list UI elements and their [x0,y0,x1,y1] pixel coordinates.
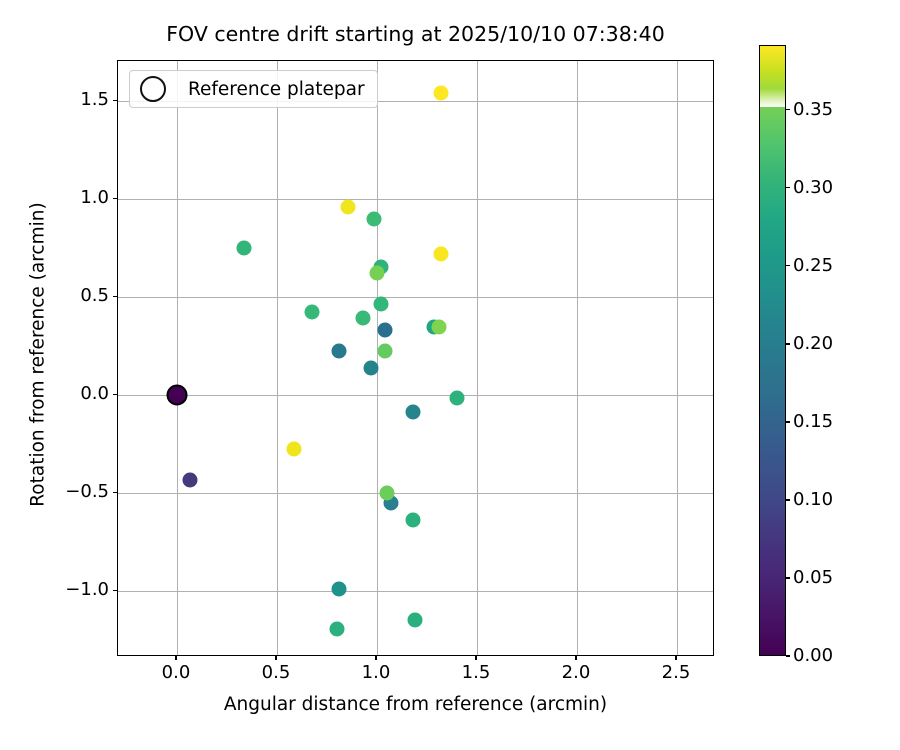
colorbar-tick-mark [786,265,790,266]
scatter-point [374,297,389,312]
colorbar-tick-label: 0.35 [793,99,833,120]
x-tick-label: 0.5 [246,662,306,683]
plot-axes [117,60,714,656]
scatter-point [341,200,356,215]
scatter-point [356,310,371,325]
colorbar-tick-mark [786,421,790,422]
scatter-point [370,265,385,280]
y-tick-mark [113,394,117,395]
colorbar-tick-label: 0.05 [793,567,833,588]
colorbar-tick-mark [786,109,790,110]
colorbar-tick-label: 0.30 [793,177,833,198]
y-tick-label: 0.5 [43,285,109,306]
scatter-point [434,247,449,262]
scatter-point [380,486,395,501]
scatter-point [305,304,320,319]
y-tick-label: 1.5 [43,89,109,110]
scatter-point [406,512,421,527]
x-tick-mark [475,656,476,660]
scatter-point [330,621,345,636]
scatter-points-layer [118,61,713,655]
colorbar-tick-label: 0.20 [793,333,833,354]
legend[interactable]: Reference platepar [129,70,378,108]
x-tick-label: 1.0 [346,662,406,683]
colorbar-tick-mark [786,655,790,656]
y-axis-label: Rotation from reference (arcmin) [28,145,49,565]
colorbar-tick-mark [786,187,790,188]
y-tick-mark [113,198,117,199]
x-tick-label: 1.5 [446,662,506,683]
x-tick-mark [675,656,676,660]
scatter-point [237,241,252,256]
y-tick-mark [113,492,117,493]
colorbar-tick-mark [786,499,790,500]
x-tick-label: 2.0 [546,662,606,683]
colorbar-tick-label: 0.15 [793,411,833,432]
scatter-point [434,86,449,101]
scatter-point [406,404,421,419]
y-tick-label: −0.5 [43,481,109,502]
colorbar-tick-label: 0.10 [793,489,833,510]
y-tick-label: 0.0 [43,383,109,404]
scatter-point [332,344,347,359]
scatter-point [450,391,465,406]
colorbar-tick-mark [786,577,790,578]
y-tick-mark [113,100,117,101]
y-tick-mark [113,296,117,297]
scatter-point [332,582,347,597]
x-tick-mark [275,656,276,660]
legend-marker-reference-platepar [140,76,166,102]
x-tick-label: 0.0 [146,662,206,683]
scatter-point [287,442,302,457]
x-tick-mark [175,656,176,660]
figure-canvas: FOV centre drift starting at 2025/10/10 … [0,0,900,750]
colorbar: 0.000.050.100.150.200.250.300.35 [759,45,786,656]
colorbar-tick-mark [786,343,790,344]
scatter-point [364,360,379,375]
scatter-point [183,472,198,487]
y-tick-label: −1.0 [43,579,109,600]
y-tick-label: 1.0 [43,187,109,208]
reference-platepar-point [167,385,188,406]
y-tick-mark [113,590,117,591]
scatter-point [432,319,447,334]
x-tick-mark [375,656,376,660]
scatter-point [408,612,423,627]
colorbar-tick-label: 0.25 [793,255,833,276]
scatter-point [367,211,382,226]
scatter-point [378,322,393,337]
x-axis-label: Angular distance from reference (arcmin) [117,694,714,715]
colorbar-tick-label: 0.00 [793,645,833,666]
scatter-point [378,344,393,359]
legend-label: Reference platepar [188,79,365,100]
x-tick-mark [575,656,576,660]
x-tick-label: 2.5 [646,662,706,683]
colorbar-gradient [759,45,786,656]
page-title: FOV centre drift starting at 2025/10/10 … [117,22,714,46]
